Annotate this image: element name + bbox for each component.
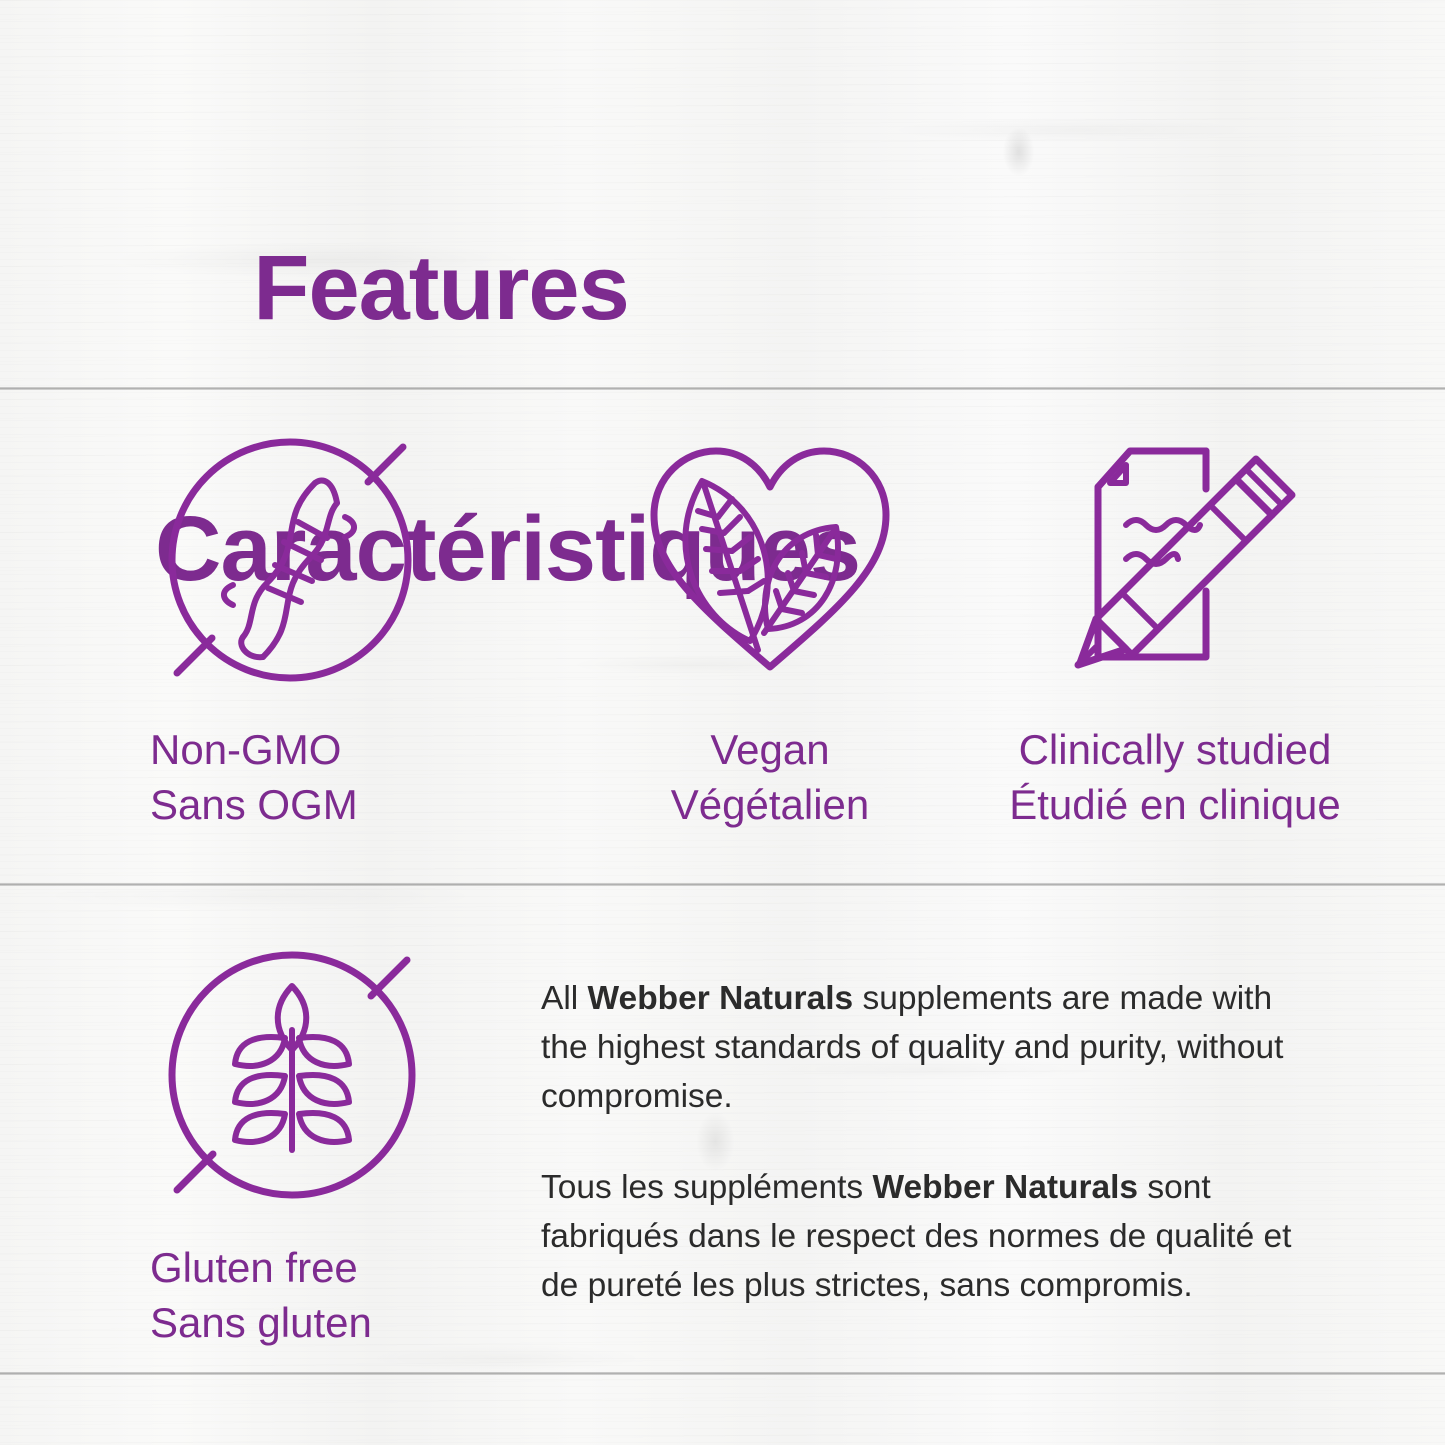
page-title-line-en: Features xyxy=(253,237,629,339)
brand-name-fr: Webber Naturals xyxy=(872,1169,1138,1206)
no-gluten-wheat-icon xyxy=(150,920,550,1230)
no-gmo-dna-icon xyxy=(150,420,550,700)
feature-label-non-gmo: Non-GMO Sans OGM xyxy=(150,722,550,833)
paragraph-en: All Webber Naturals supplements are made… xyxy=(541,975,1321,1122)
paragraph-en-before: All xyxy=(541,980,588,1017)
feature-label-vegan: Vegan Végétalien xyxy=(570,722,970,833)
feature-gluten-free: Gluten free Sans gluten xyxy=(150,920,550,1351)
paragraph-fr: Tous les suppléments Webber Naturals son… xyxy=(541,1164,1321,1311)
document-pen-clinical-icon xyxy=(960,420,1390,700)
feature-non-gmo: Non-GMO Sans OGM xyxy=(150,420,550,833)
features-panel: Features Caractéristiques xyxy=(0,0,1445,1445)
feature-label-clinically-studied: Clinically studied Étudié en clinique xyxy=(960,722,1390,833)
body-copy: All Webber Naturals supplements are made… xyxy=(541,975,1321,1310)
plank-seam-divider-3 xyxy=(0,1372,1445,1375)
paragraph-fr-before: Tous les suppléments xyxy=(541,1169,872,1206)
heart-leaves-vegan-icon xyxy=(570,420,970,700)
plank-seam-divider-2 xyxy=(0,883,1445,886)
feature-vegan: Vegan Végétalien xyxy=(570,420,970,833)
feature-clinically-studied: Clinically studied Étudié en clinique xyxy=(960,420,1390,833)
brand-name-en: Webber Naturals xyxy=(588,980,854,1017)
feature-label-gluten-free: Gluten free Sans gluten xyxy=(150,1240,550,1351)
